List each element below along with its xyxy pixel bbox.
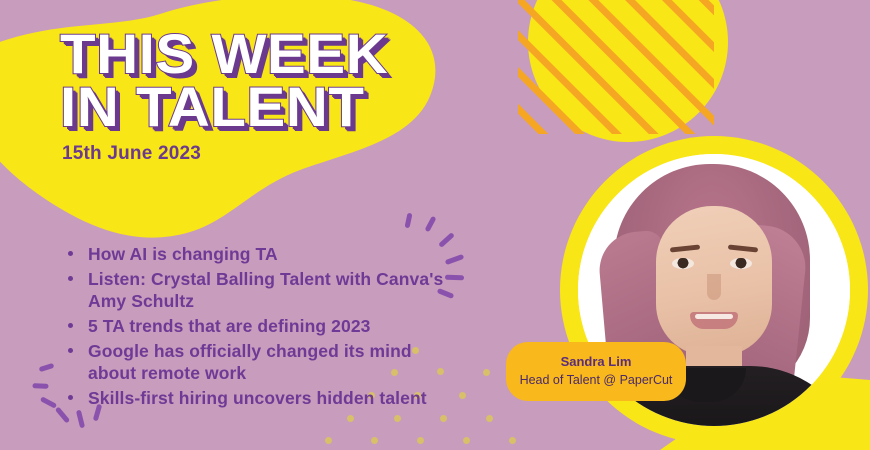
speaker-role: Head of Talent @ PaperCut: [516, 372, 676, 388]
portrait-container: [0, 0, 870, 450]
speaker-name: Sandra Lim: [516, 354, 676, 371]
newsletter-graphic: THIS WEEK IN TALENT 15th June 2023 How A…: [0, 0, 870, 450]
portrait-nose: [707, 274, 721, 300]
portrait-eye-right: [730, 258, 752, 269]
portrait-eye-left: [672, 258, 694, 269]
portrait-mouth: [690, 312, 738, 329]
speaker-name-badge: Sandra Lim Head of Talent @ PaperCut: [506, 342, 686, 401]
